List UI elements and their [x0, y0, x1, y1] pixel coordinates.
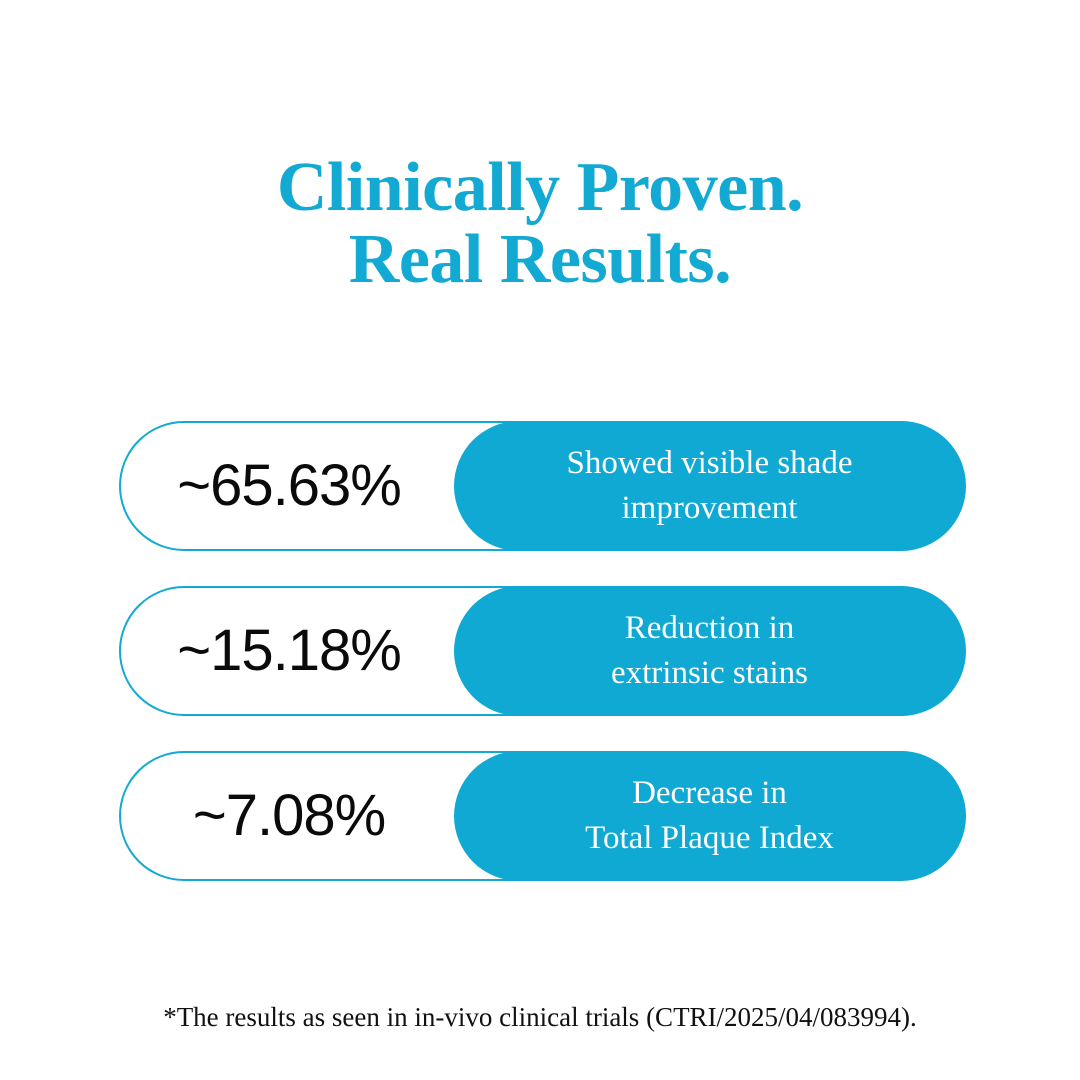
stat-label: Showed visible shade improvement: [541, 441, 879, 531]
stat-row: Decrease in Total Plaque Index ~7.08%: [119, 751, 962, 881]
stat-value: ~15.18%: [121, 588, 458, 714]
stat-label-pill: Reduction in extrinsic stains: [454, 586, 966, 716]
stat-label-pill: Showed visible shade improvement: [454, 421, 966, 551]
footnote: *The results as seen in in-vivo clinical…: [0, 1001, 1080, 1033]
stat-label: Decrease in Total Plaque Index: [559, 771, 860, 861]
stat-value: ~7.08%: [121, 753, 458, 879]
stat-label-line-1: Decrease in: [585, 771, 834, 816]
stat-label-pill: Decrease in Total Plaque Index: [454, 751, 966, 881]
stat-label-line-1: Showed visible shade: [567, 441, 853, 486]
page-title: Clinically Proven. Real Results.: [277, 152, 803, 296]
clinical-results-poster: Clinically Proven. Real Results. Showed …: [0, 0, 1080, 1080]
stat-row: Showed visible shade improvement ~65.63%: [119, 421, 962, 551]
stat-label-line-2: Total Plaque Index: [585, 816, 834, 861]
stat-label-line-2: improvement: [567, 486, 853, 531]
page-title-line-1: Clinically Proven.: [277, 152, 803, 224]
stat-label-line-1: Reduction in: [611, 606, 808, 651]
stats-list: Showed visible shade improvement ~65.63%…: [0, 421, 1080, 881]
stat-value: ~65.63%: [121, 423, 458, 549]
stat-label: Reduction in extrinsic stains: [585, 606, 834, 696]
stat-row: Reduction in extrinsic stains ~15.18%: [119, 586, 962, 716]
page-title-line-2: Real Results.: [277, 224, 803, 296]
stat-label-line-2: extrinsic stains: [611, 651, 808, 696]
